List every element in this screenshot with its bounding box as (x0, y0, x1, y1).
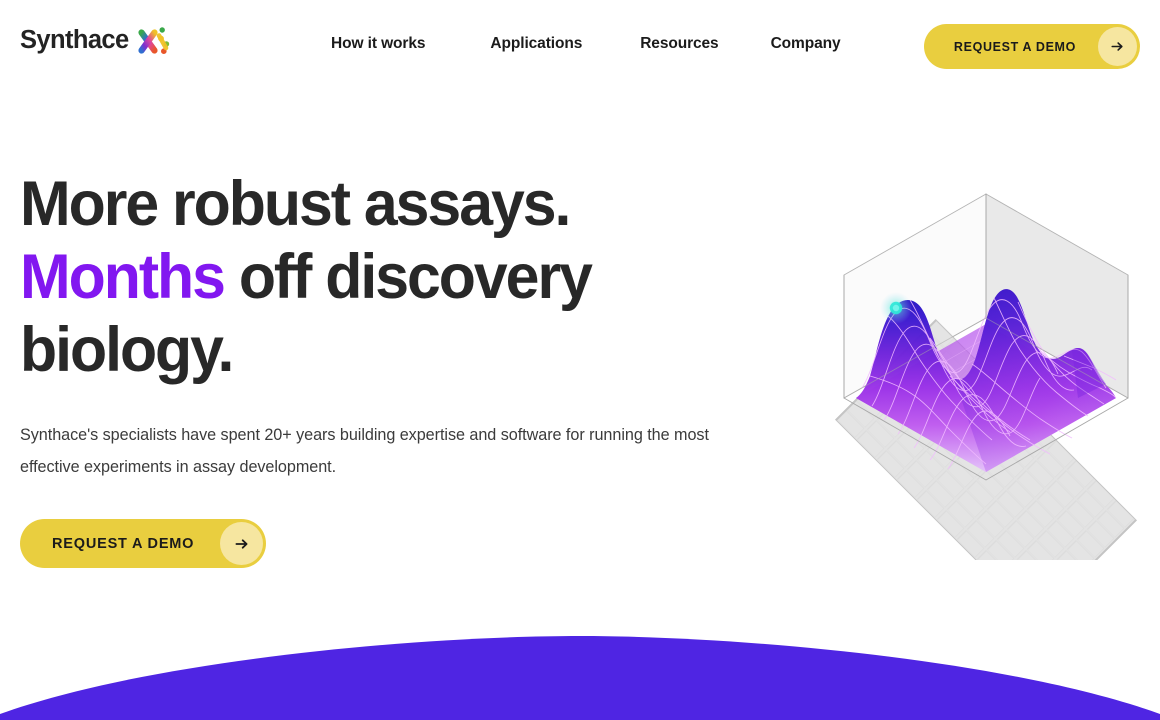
highlight-data-point (880, 292, 912, 324)
hero-title-line-1: More robust assays. (20, 169, 569, 239)
synthace-x-mark-icon (137, 26, 171, 56)
hero-subtitle: Synthace's specialists have spent 20+ ye… (20, 419, 720, 483)
nav-item-how-it-works[interactable]: How it works (331, 36, 425, 52)
hero-title-line-2-rest: off discovery (224, 242, 591, 312)
nav-item-company[interactable]: Company (771, 36, 841, 52)
landing-page: Synthace (0, 0, 1160, 720)
header-request-demo-label: REQUEST A DEMO (954, 40, 1076, 54)
brand-logo[interactable]: Synthace (20, 26, 171, 56)
nav-item-applications[interactable]: Applications (490, 36, 582, 52)
page-title: More robust assays. Months off discovery… (20, 168, 696, 387)
hero-title-line-3: biology. (20, 315, 232, 385)
arrow-right-icon (1098, 27, 1137, 66)
arrow-right-icon (220, 522, 263, 565)
nav-item-resources[interactable]: Resources (640, 36, 718, 52)
header-request-demo-button[interactable]: REQUEST A DEMO (924, 24, 1140, 69)
hero-title-accent-word: Months (20, 242, 224, 312)
hero-request-demo-button[interactable]: REQUEST A DEMO (20, 519, 266, 568)
brand-wordmark: Synthace (20, 28, 129, 54)
hero-copy: More robust assays. Months off discovery… (20, 168, 720, 568)
hero-cta-wrapper: REQUEST A DEMO (20, 519, 720, 568)
hero-section: More robust assays. Months off discovery… (0, 88, 1160, 628)
main-navigation: How it works Applications Resources Comp… (331, 0, 841, 88)
site-header: Synthace (0, 0, 1160, 88)
3d-response-surface-plot (826, 180, 1146, 560)
hero-request-demo-label: REQUEST A DEMO (52, 536, 194, 552)
